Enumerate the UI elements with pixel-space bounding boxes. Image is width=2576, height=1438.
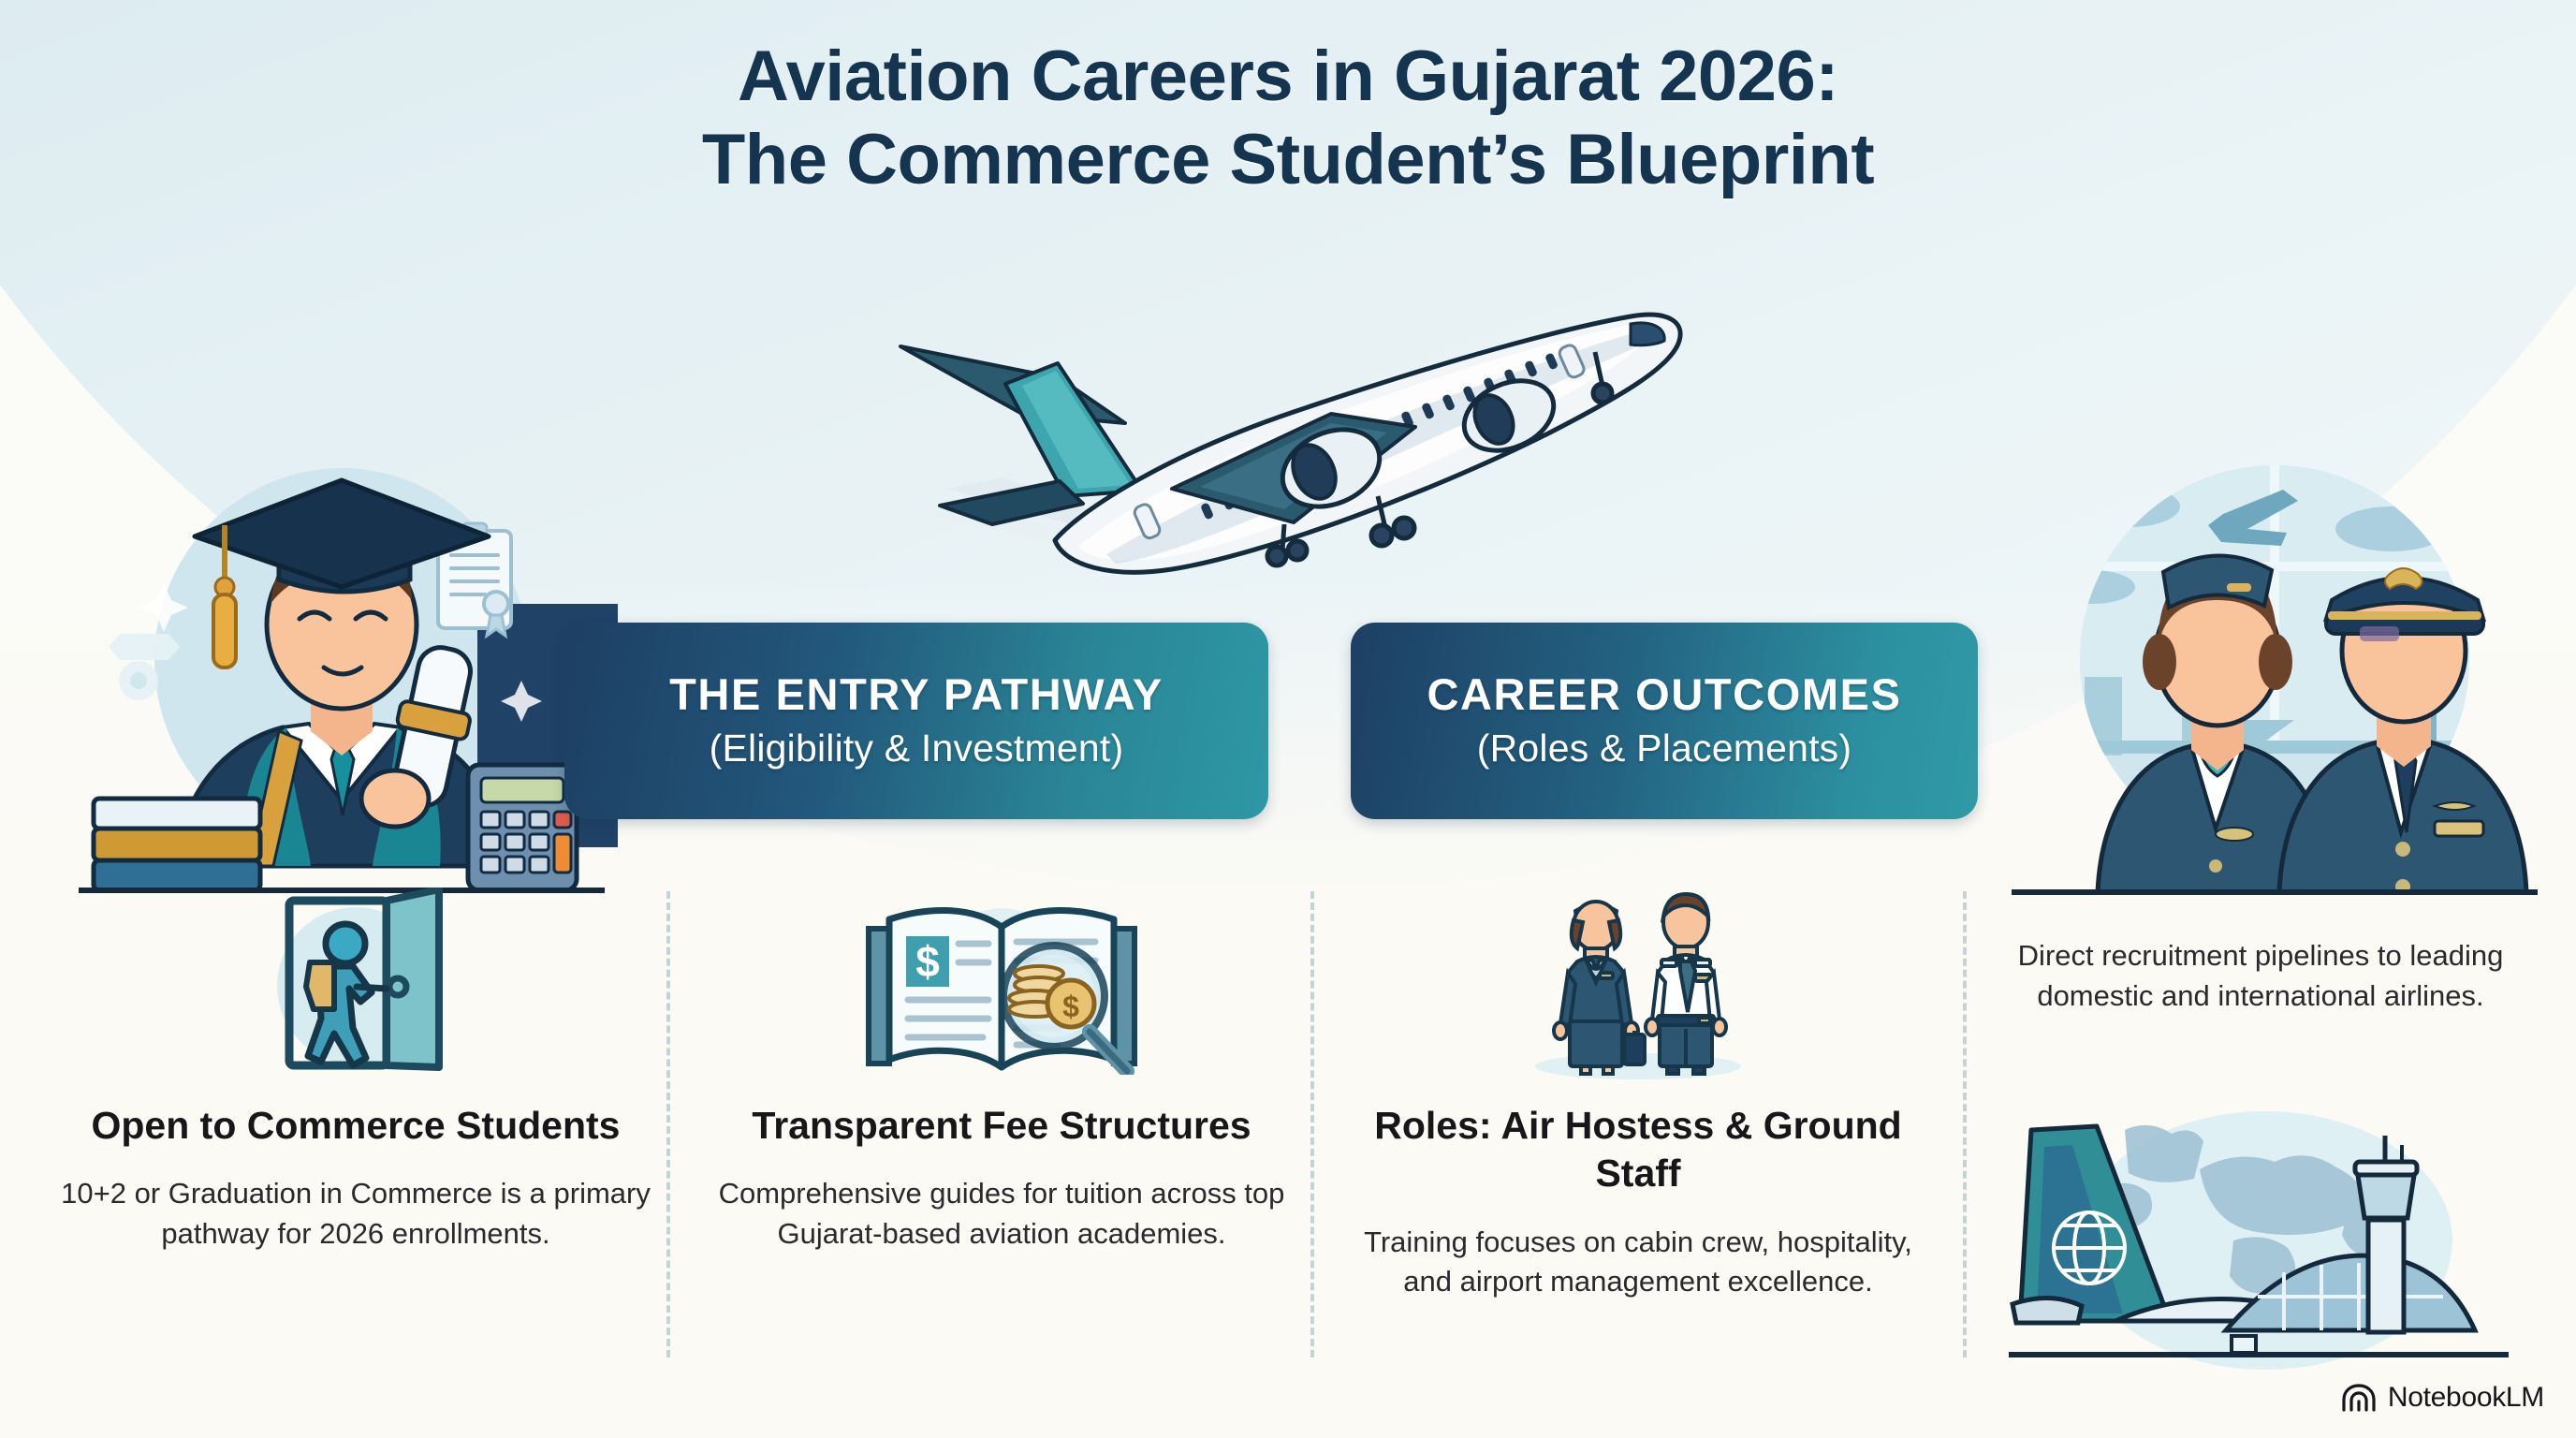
book-magnifier-coins-icon: $ $ xyxy=(861,888,1142,1075)
banner-career-outcomes[interactable]: CAREER OUTCOMES (Roles & Placements) xyxy=(1351,623,1978,819)
column-1-body: 10+2 or Graduation in Commerce is a prim… xyxy=(56,1174,655,1255)
airport-terminal-and-airplane-tail-illustration xyxy=(2003,1109,2513,1390)
column-1-icon-wrap xyxy=(56,880,655,1081)
banner-career-outcomes-title: CAREER OUTCOMES xyxy=(1427,671,1901,718)
page-title: Aviation Careers in Gujarat 2026: The Co… xyxy=(0,36,2576,202)
column-divider-2 xyxy=(1310,891,1314,1357)
column-3-icon-wrap xyxy=(1348,880,1928,1081)
banner-career-outcomes-subtitle: (Roles & Placements) xyxy=(1477,726,1851,770)
column-2-body: Comprehensive guides for tuition across … xyxy=(711,1174,1292,1255)
feature-column-transparent-fees: $ $ Transparent Fee Structures xyxy=(711,880,1292,1255)
recruitment-pipeline-copy: Direct recruitment pipelines to leading … xyxy=(2012,936,2509,1017)
feature-column-open-to-commerce: Open to Commerce Students 10+2 or Gradua… xyxy=(56,880,655,1255)
door-entry-icon xyxy=(256,888,457,1075)
notebooklm-arc-icon xyxy=(2341,1384,2377,1412)
air-hostess-ground-staff-icon xyxy=(1521,883,1755,1079)
svg-text:$: $ xyxy=(915,937,940,986)
banner-entry-pathway[interactable]: THE ENTRY PATHWAY (Eligibility & Investm… xyxy=(564,623,1268,819)
column-3-body: Training focuses on cabin crew, hospital… xyxy=(1348,1223,1928,1303)
notebooklm-watermark: NotebookLM xyxy=(2341,1382,2544,1414)
column-3-title: Roles: Air Hostess & Ground Staff xyxy=(1348,1102,1928,1198)
airliner-taking-off-icon xyxy=(891,273,1696,582)
page-title-line-2: The Commerce Student’s Blueprint xyxy=(0,119,2576,202)
column-2-title: Transparent Fee Structures xyxy=(711,1102,1292,1150)
svg-text:$: $ xyxy=(1062,990,1079,1023)
banner-entry-pathway-subtitle: (Eligibility & Investment) xyxy=(710,726,1124,770)
banner-entry-pathway-title: THE ENTRY PATHWAY xyxy=(669,671,1164,718)
feature-column-roles: Roles: Air Hostess & Ground Staff Traini… xyxy=(1348,880,1928,1302)
cabin-crew-and-pilot-illustration xyxy=(1998,426,2551,903)
column-2-icon-wrap: $ $ xyxy=(711,880,1292,1081)
column-divider-3 xyxy=(1963,891,1967,1357)
notebooklm-watermark-text: NotebookLM xyxy=(2388,1382,2544,1414)
graduate-with-diploma-illustration xyxy=(66,426,618,903)
column-divider-1 xyxy=(666,891,670,1357)
page-title-line-1: Aviation Careers in Gujarat 2026: xyxy=(0,36,2576,119)
column-1-title: Open to Commerce Students xyxy=(56,1102,655,1150)
